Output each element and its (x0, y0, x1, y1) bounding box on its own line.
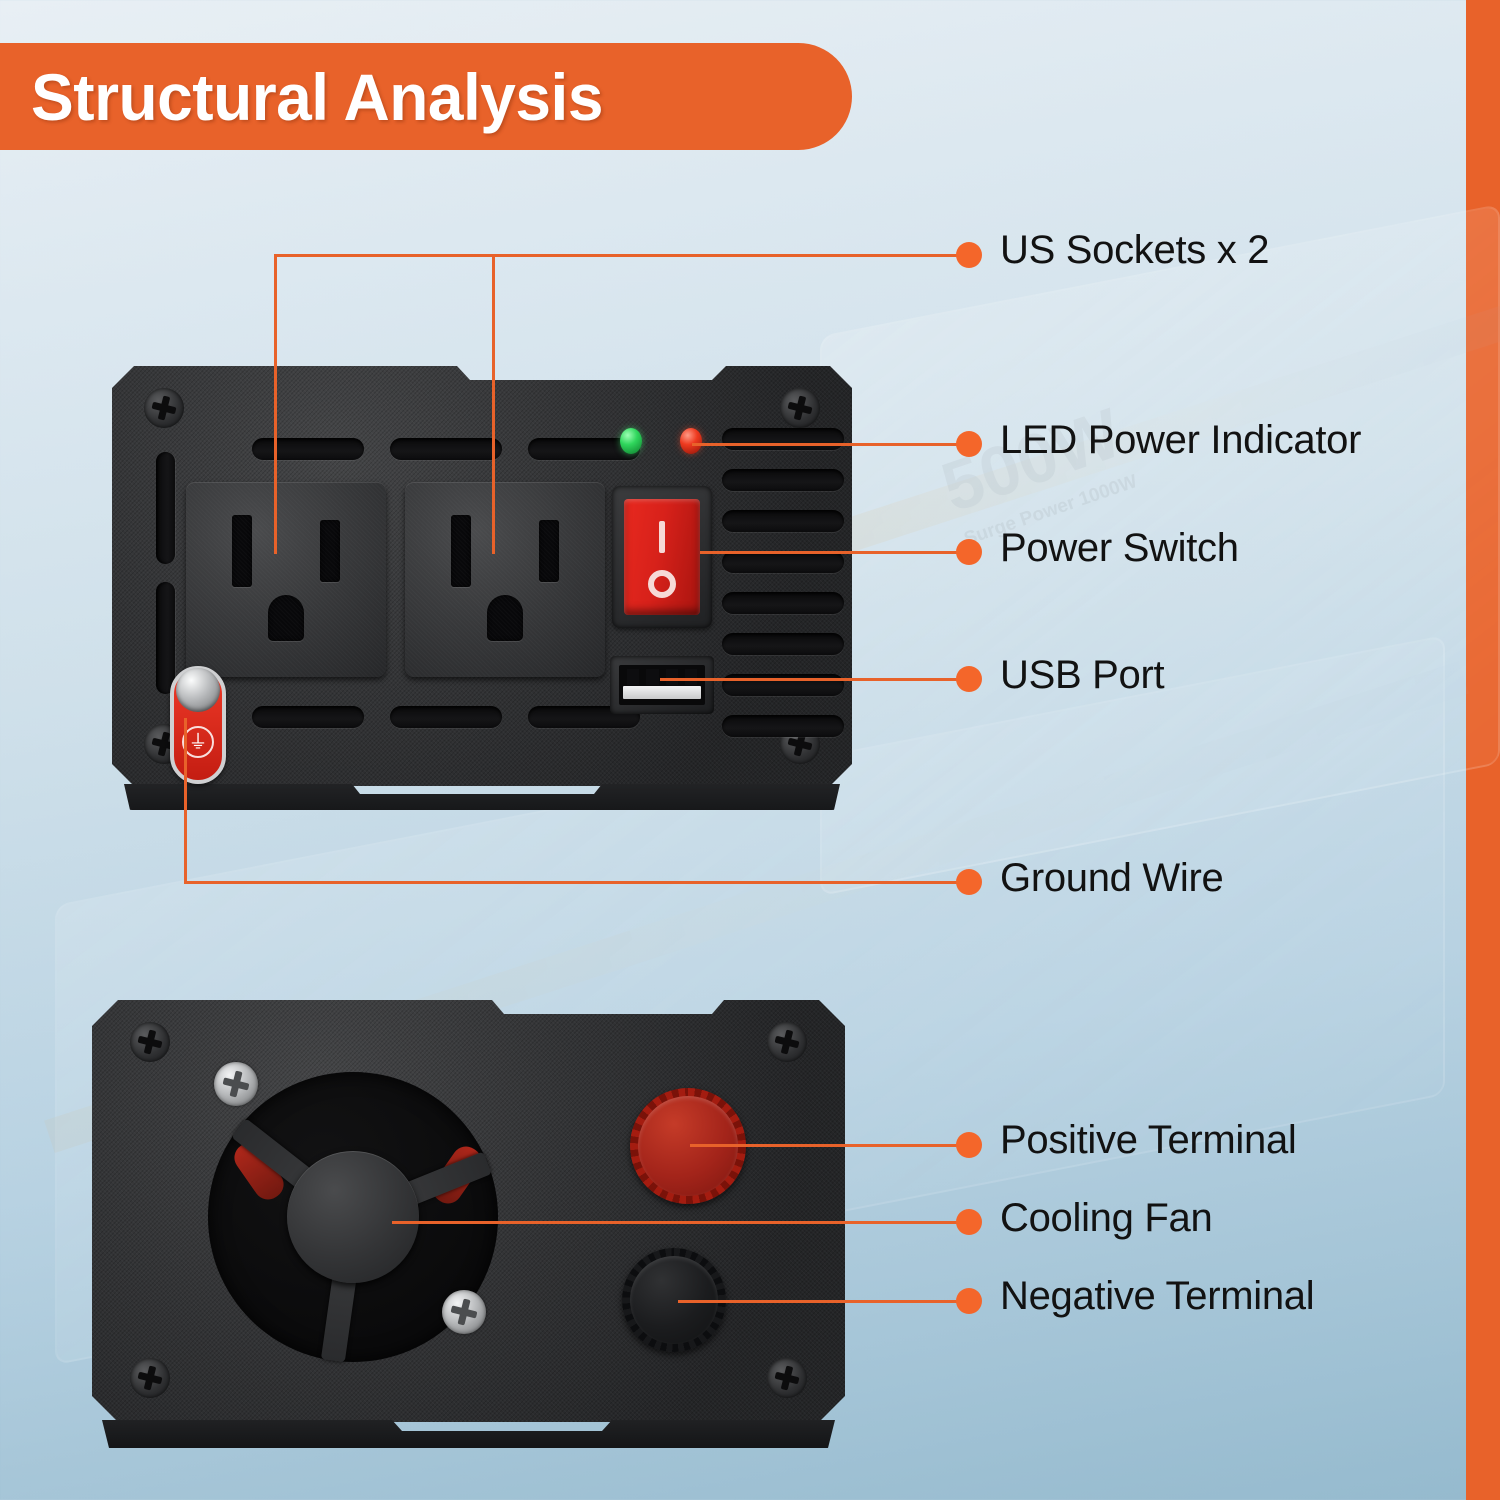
inverter-front-panel: ⏚ (112, 366, 852, 786)
led-power-green-icon (620, 428, 642, 454)
callout-label-ground-wire: Ground Wire (1000, 856, 1223, 901)
callout-label-power-switch: Power Switch (1000, 526, 1239, 571)
socket-ground-hole (487, 595, 523, 641)
vent-slot (156, 452, 175, 564)
fan-screw-bottom-right-icon (442, 1290, 486, 1334)
ground-screw-nut-icon (176, 668, 220, 712)
callout-label-usb-port: USB Port (1000, 653, 1164, 698)
vent-slot (390, 438, 502, 460)
leader-usb-port (660, 678, 970, 681)
usb-port[interactable] (610, 656, 714, 714)
callout-label-led-indicator: LED Power Indicator (1000, 418, 1361, 463)
vent-slot (722, 715, 844, 737)
callout-label-cooling-fan: Cooling Fan (1000, 1196, 1212, 1241)
callout-dot-negative-terminal[interactable] (956, 1288, 982, 1314)
vent-slot (722, 592, 844, 614)
vent-slot (722, 428, 844, 450)
leader-positive-terminal (690, 1144, 970, 1147)
callout-label-us-sockets: US Sockets x 2 (1000, 228, 1269, 273)
usb-pins (627, 669, 697, 685)
screw-top-left-icon (130, 1022, 170, 1062)
vent-slot (252, 438, 364, 460)
power-switch[interactable] (612, 486, 712, 628)
fan-hub (287, 1151, 419, 1283)
screw-bottom-right-icon (767, 1358, 807, 1398)
led-power-red-icon (680, 428, 702, 454)
front-panel-foot (124, 784, 840, 810)
callout-dot-positive-terminal[interactable] (956, 1132, 982, 1158)
callout-dot-power-switch[interactable] (956, 539, 982, 565)
leader-ground-wire-drop (184, 718, 187, 884)
header-banner: Structural Analysis (0, 43, 852, 150)
switch-on-symbol-icon (659, 521, 665, 553)
leader-led-indicator (692, 443, 970, 446)
callout-label-positive-terminal: Positive Terminal (1000, 1118, 1297, 1163)
vent-slot (722, 551, 844, 573)
us-socket-2[interactable] (405, 482, 605, 677)
callout-dot-usb-port[interactable] (956, 666, 982, 692)
ground-wire-terminal[interactable]: ⏚ (170, 666, 226, 784)
socket-slot-neutral (232, 515, 252, 587)
vent-slot (390, 706, 502, 728)
screw-bottom-left-icon (130, 1358, 170, 1398)
fan-screw-top-left-icon (214, 1062, 258, 1106)
socket-slot-hot (320, 520, 340, 582)
callout-dot-led-indicator[interactable] (956, 431, 982, 457)
vent-slot (722, 633, 844, 655)
socket-slot-neutral (451, 515, 471, 587)
callout-dot-cooling-fan[interactable] (956, 1209, 982, 1235)
leader-ground-wire-horizontal (184, 881, 970, 884)
screw-top-right-icon (780, 388, 820, 428)
leader-us-sockets-drop-2 (492, 254, 495, 554)
us-socket-1[interactable] (186, 482, 386, 677)
screw-top-right-icon (767, 1022, 807, 1062)
leader-negative-terminal (678, 1300, 970, 1303)
vent-slot (252, 706, 364, 728)
screw-top-left-icon (144, 388, 184, 428)
socket-slot-hot (539, 520, 559, 582)
leader-us-sockets-drop-1 (274, 254, 277, 554)
vent-slot (722, 510, 844, 532)
leader-us-sockets-horizontal (274, 254, 968, 257)
page-title: Structural Analysis (0, 59, 603, 135)
rear-panel-foot (102, 1420, 835, 1448)
right-accent-bar (1466, 0, 1500, 1500)
vent-slot (156, 582, 175, 694)
usb-tongue (623, 686, 701, 699)
callout-dot-ground-wire[interactable] (956, 869, 982, 895)
callout-dot-us-sockets[interactable] (956, 242, 982, 268)
leader-cooling-fan (392, 1221, 970, 1224)
switch-off-symbol-icon (648, 570, 676, 598)
power-switch-rocker[interactable] (624, 499, 700, 615)
leader-power-switch (700, 551, 970, 554)
inverter-rear-panel (92, 1000, 845, 1422)
vent-slot (722, 469, 844, 491)
usb-port-opening (619, 665, 705, 705)
callout-label-negative-terminal: Negative Terminal (1000, 1274, 1314, 1319)
socket-ground-hole (268, 595, 304, 641)
